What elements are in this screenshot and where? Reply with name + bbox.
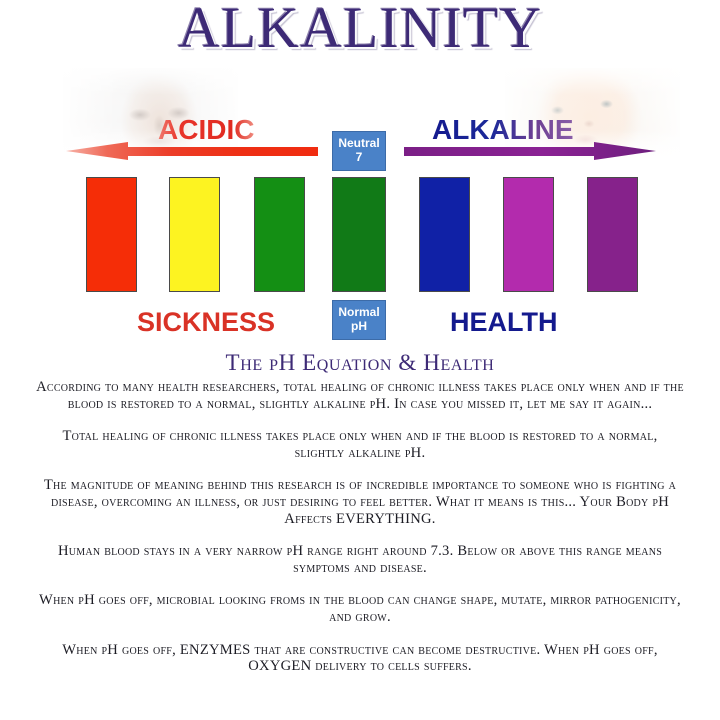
paragraph: The magnitude of meaning behind this res… — [30, 477, 690, 527]
ph-bar-alkaline-3 — [587, 177, 638, 292]
ph-bar-acidic-2 — [169, 177, 220, 292]
alkalinity-infographic: ALKALINITY ACIDIC ALKALINE — [0, 0, 720, 720]
paragraph: According to many health researchers, to… — [30, 379, 690, 412]
normal-ph-badge: Normal pH — [332, 300, 386, 340]
left-arrow-icon — [66, 140, 318, 162]
page-title: ALKALINITY — [0, 0, 720, 60]
body-copy: According to many health researchers, to… — [30, 379, 690, 675]
paragraph: Human blood stays in a very narrow pH ra… — [30, 543, 690, 576]
normal-badge-line2: pH — [333, 319, 385, 333]
right-arrow-icon — [404, 140, 656, 162]
health-label: HEALTH — [450, 307, 558, 338]
section-heading: The pH Equation & Health — [0, 350, 720, 376]
neutral-badge-line2: 7 — [333, 150, 385, 164]
ph-bar-alkaline-2 — [503, 177, 554, 292]
paragraph: When pH goes off, microbial looking from… — [30, 592, 690, 625]
paragraph: When pH goes off, ENZYMES that are const… — [30, 642, 690, 675]
ph-bar-acidic-3 — [254, 177, 305, 292]
ph-bar-neutral — [332, 177, 386, 292]
normal-badge-line1: Normal — [333, 305, 385, 319]
neutral-ph-badge: Neutral 7 — [332, 131, 386, 171]
paragraph: Total healing of chronic illness takes p… — [30, 428, 690, 461]
ph-bar-alkaline-1 — [419, 177, 470, 292]
ph-bar-acidic-1 — [86, 177, 137, 292]
neutral-badge-line1: Neutral — [333, 136, 385, 150]
sickness-label: SICKNESS — [137, 307, 275, 338]
